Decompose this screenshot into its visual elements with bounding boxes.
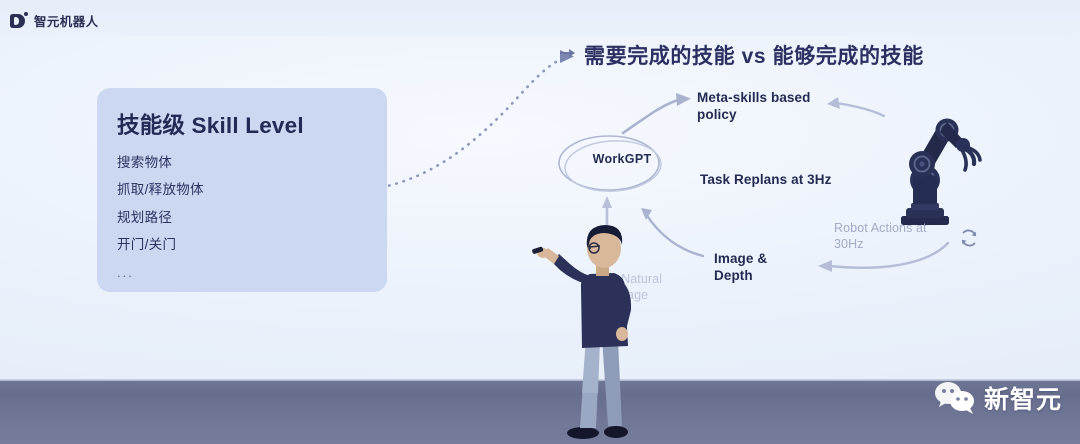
list-item: 搜索物体 xyxy=(117,156,387,170)
page-title: 需要完成的技能 vs 能够完成的技能 xyxy=(584,40,924,70)
presenter-person-icon xyxy=(528,218,668,444)
node-task-replans-label: Task Replans at 3Hz xyxy=(700,172,831,189)
slide-headline: 需要完成的技能 vs 能够完成的技能 xyxy=(560,40,924,70)
skill-card-title: 技能级 Skill Level xyxy=(117,114,387,139)
watermark-text: 新智元 xyxy=(984,380,1062,416)
arrow-right-icon xyxy=(560,46,576,64)
node-workgpt-label: WorkGPT xyxy=(576,152,668,168)
wechat-icon xyxy=(933,380,977,416)
refresh-loop-icon xyxy=(957,226,981,250)
skill-list: 搜索物体 抓取/释放物体 规划路径 开门/关门 ... xyxy=(117,156,387,279)
robot-d-logo-icon xyxy=(10,12,27,29)
node-meta-skills-label: Meta-skills based policy xyxy=(697,90,822,124)
list-item: 开门/关门 xyxy=(117,238,387,252)
list-item-ellipsis: ... xyxy=(117,266,387,279)
list-item: 规划路径 xyxy=(117,211,387,225)
node-robot-actions-label: Robot Actions at 30Hz xyxy=(834,221,954,252)
robot-arm-icon xyxy=(885,108,985,233)
skill-level-card: 技能级 Skill Level 搜索物体 抓取/释放物体 规划路径 开门/关门 … xyxy=(97,88,387,292)
node-image-depth-label: Image & Depth xyxy=(714,251,804,285)
watermark: 新智元 xyxy=(933,380,1062,416)
brand-logo: 智元机器人 xyxy=(10,11,99,30)
stage-scene: 智元机器人 技能级 Skill Level 搜索物体 抓取/释放物体 规划路径 … xyxy=(0,0,1080,444)
arrow-to-meta-skills xyxy=(623,93,691,133)
brand-name: 智元机器人 xyxy=(34,11,99,30)
list-item: 抓取/释放物体 xyxy=(117,183,387,197)
arrow-meta-to-robot xyxy=(827,97,884,116)
